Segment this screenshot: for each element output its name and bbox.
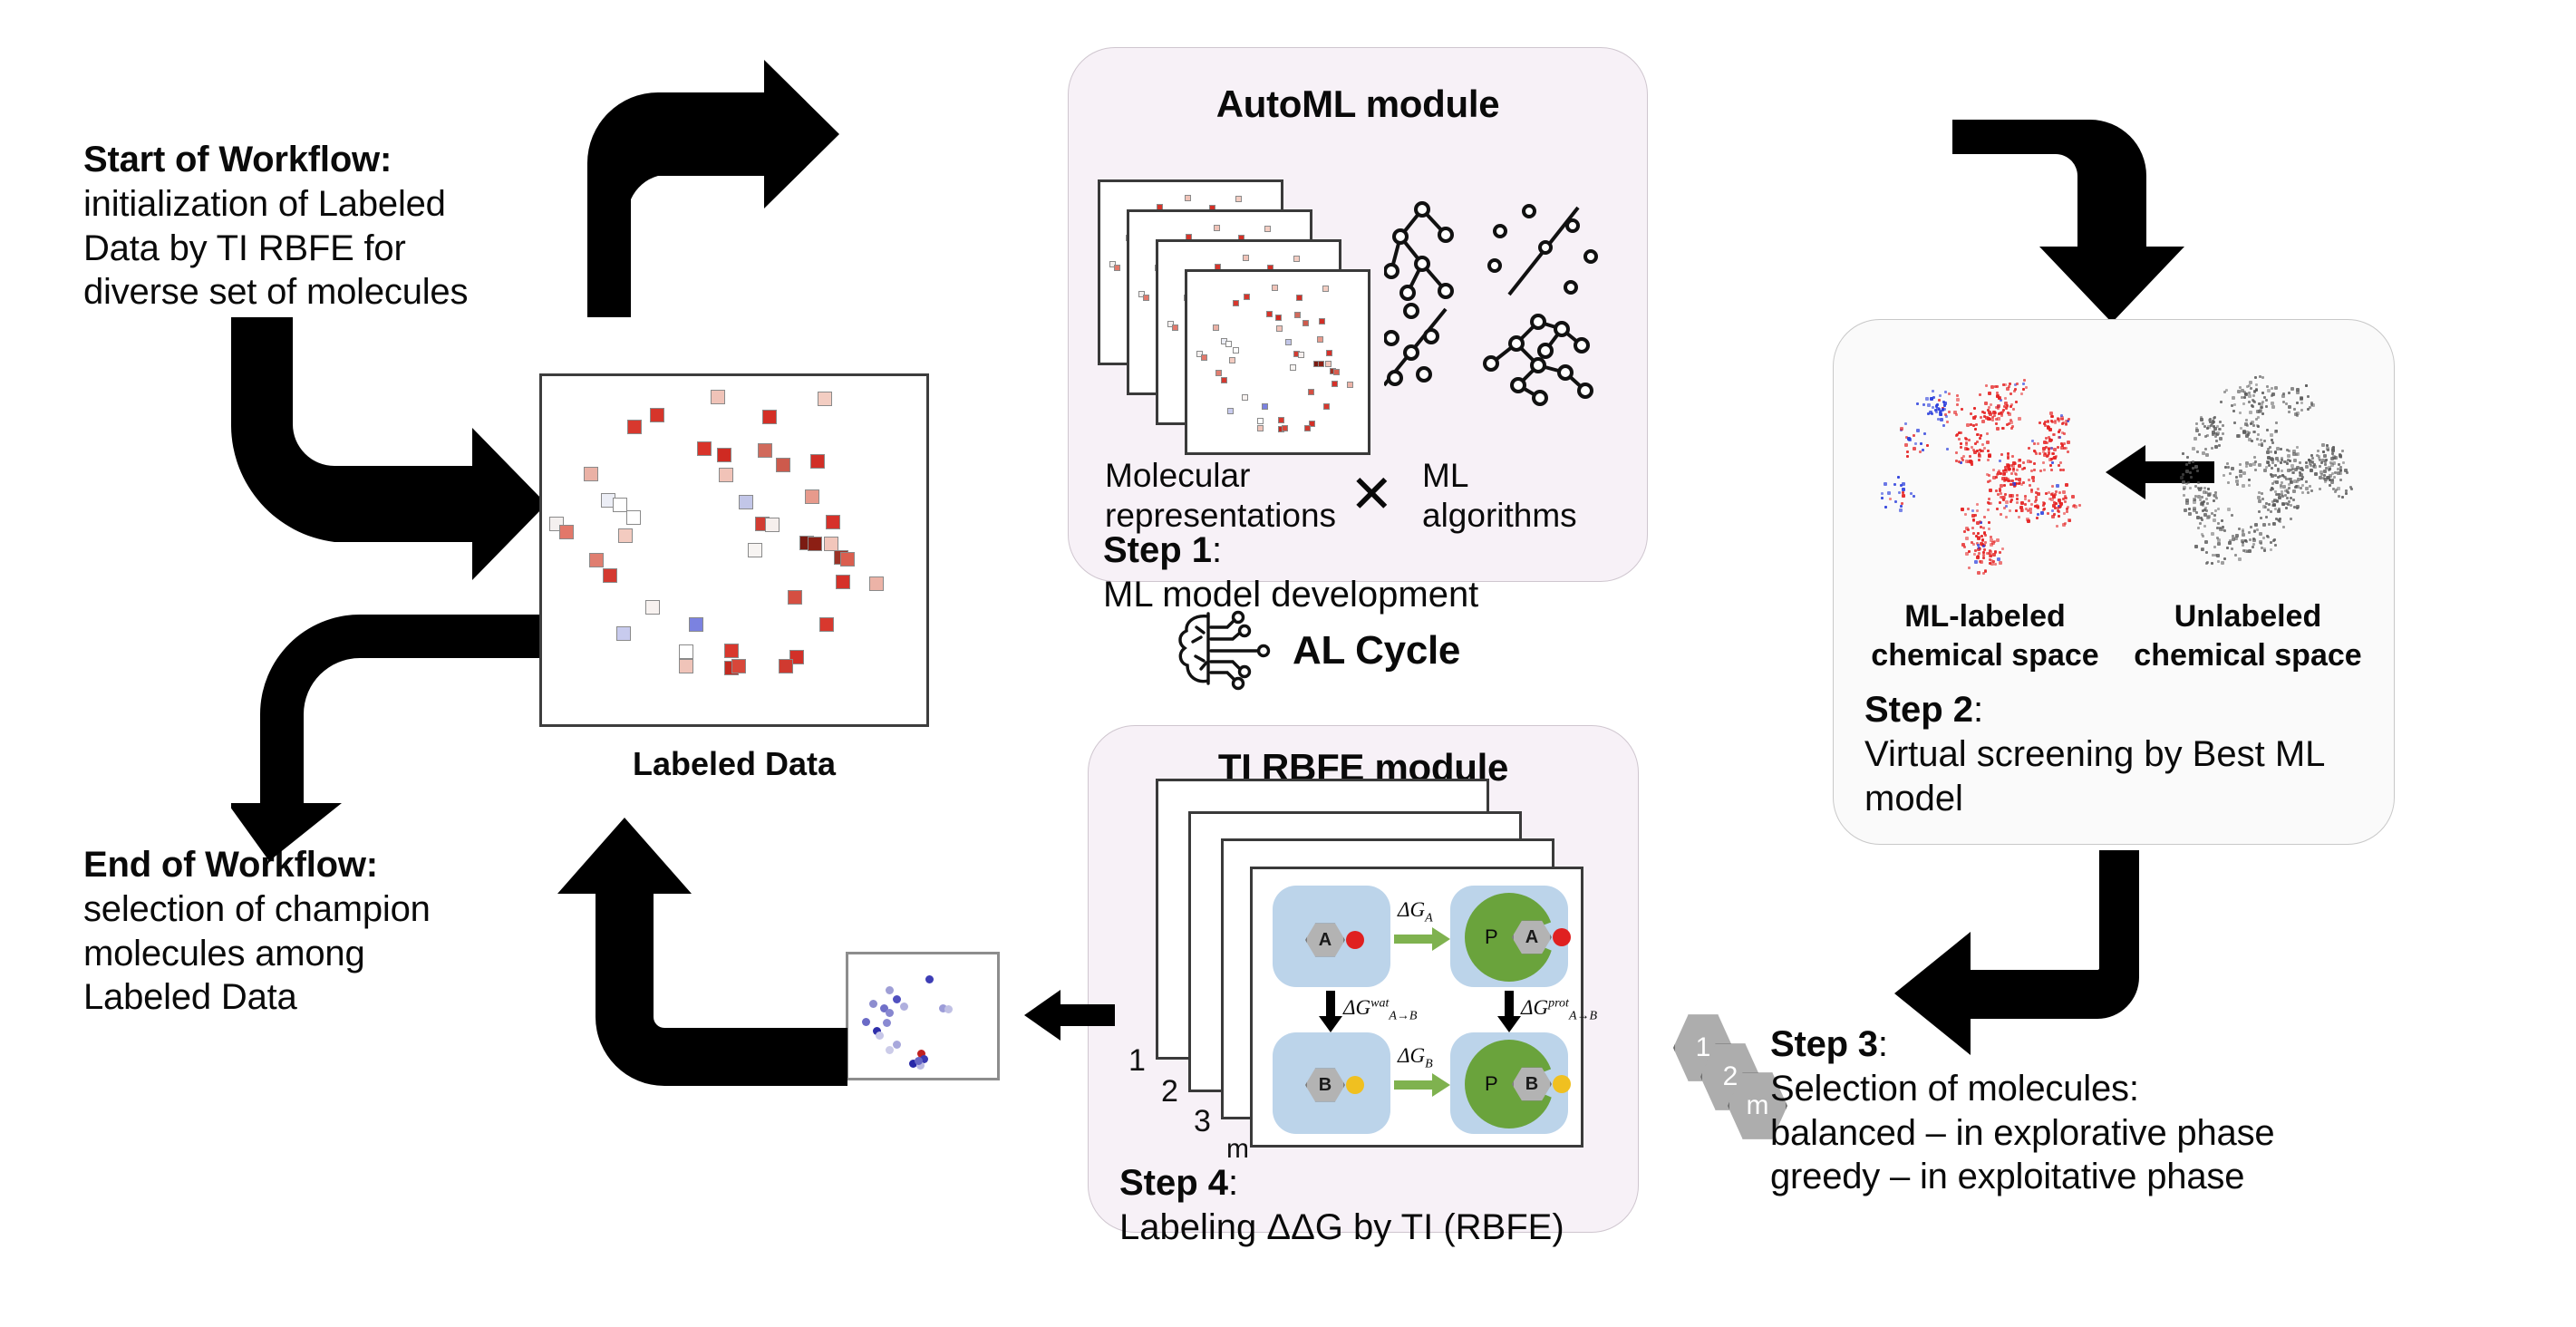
chemical-space-point bbox=[2005, 500, 2009, 504]
chemical-space-point bbox=[2048, 498, 2051, 500]
chemical-space-point bbox=[1990, 536, 1992, 538]
representation-point bbox=[1233, 300, 1239, 306]
chemical-space-point bbox=[2285, 507, 2288, 509]
chemical-space-point bbox=[2047, 421, 2049, 423]
chemical-space-point bbox=[2274, 474, 2277, 477]
chemical-space-point bbox=[1898, 491, 1901, 494]
chemical-space-point bbox=[1972, 543, 1975, 546]
representation-point bbox=[1114, 265, 1120, 271]
chemical-space-point bbox=[1974, 442, 1977, 445]
chemical-space-point bbox=[1964, 513, 1967, 516]
chemical-space-point bbox=[2222, 424, 2224, 427]
chemical-space-point bbox=[2211, 532, 2214, 536]
chemical-space-point bbox=[1980, 535, 1983, 538]
chemical-space-point bbox=[2048, 491, 2050, 494]
chemical-space-point bbox=[2028, 447, 2030, 450]
selected-molecule-point bbox=[862, 1018, 870, 1026]
chemical-space-point bbox=[2200, 416, 2203, 419]
chemical-space-point bbox=[2203, 487, 2206, 489]
chemical-space-point bbox=[2202, 451, 2205, 455]
step-2-text-line-1: Virtual screening by Best ML bbox=[1864, 732, 2372, 777]
chemical-space-point bbox=[1897, 476, 1900, 479]
chemical-space-point bbox=[2002, 496, 2006, 499]
chemical-space-point bbox=[1922, 449, 1924, 451]
chemical-space-point bbox=[2240, 427, 2242, 430]
start-of-workflow-line-1: initialization of Labeled bbox=[83, 182, 555, 227]
chemical-space-point bbox=[1935, 411, 1938, 413]
chemical-space-point bbox=[2290, 387, 2294, 391]
chemical-space-point bbox=[2200, 502, 2203, 506]
chemical-space-point bbox=[2016, 501, 2019, 504]
dg-wat-sup: wat bbox=[1370, 996, 1389, 1010]
chemical-space-point bbox=[2300, 487, 2302, 489]
chemical-space-point bbox=[2025, 508, 2028, 510]
chemical-space-point bbox=[2211, 447, 2213, 450]
chemical-space-point bbox=[2195, 427, 2198, 430]
chemical-space-point bbox=[2328, 469, 2330, 471]
chemical-space-point bbox=[1900, 505, 1903, 508]
chemical-space-point bbox=[2043, 469, 2046, 471]
chemical-space-point bbox=[1999, 460, 2001, 462]
chemical-space-point bbox=[1913, 447, 1916, 450]
chemical-space-point bbox=[2185, 482, 2188, 485]
chemical-space-point bbox=[1968, 567, 1971, 569]
chemical-space-point bbox=[2282, 526, 2285, 528]
chemical-space-point bbox=[2258, 402, 2261, 405]
chemical-space-point bbox=[2239, 463, 2242, 466]
chemical-space-point bbox=[2271, 461, 2274, 464]
dg-b-sub: B bbox=[1425, 1058, 1433, 1071]
chemical-space-point bbox=[2049, 464, 2052, 467]
chemical-space-point bbox=[1961, 408, 1963, 411]
chemical-space-point bbox=[2342, 461, 2345, 464]
chemical-space-point bbox=[1939, 394, 1942, 397]
chemical-space-point bbox=[2296, 402, 2299, 404]
chemical-space-point bbox=[2278, 508, 2281, 510]
chemical-space-point bbox=[2036, 517, 2039, 519]
chemical-space-point bbox=[2307, 395, 2310, 398]
representation-point bbox=[1332, 381, 1338, 387]
labeled-data-point bbox=[765, 518, 780, 532]
chemical-space-point bbox=[1942, 408, 1944, 411]
chemical-space-point bbox=[2009, 494, 2012, 498]
chemical-space-point bbox=[2236, 483, 2239, 486]
chemical-space-point bbox=[2263, 396, 2266, 399]
chemical-space-point bbox=[2012, 468, 2015, 470]
chemical-space-point bbox=[2005, 407, 2008, 410]
protein-p-label-b: P bbox=[1485, 1072, 1498, 1096]
chemical-space-point bbox=[2003, 507, 2006, 509]
dg-a-symbol: ΔG bbox=[1398, 898, 1425, 921]
chemical-space-point bbox=[2029, 511, 2032, 514]
representation-point bbox=[1143, 295, 1149, 301]
chemical-space-point bbox=[2201, 547, 2204, 551]
chemical-space-point bbox=[2313, 465, 2317, 469]
representation-point bbox=[1290, 364, 1296, 371]
ml-algorithms-line-1: ML bbox=[1422, 456, 1622, 496]
chemical-space-point bbox=[2290, 504, 2292, 507]
chemical-space-point bbox=[1932, 390, 1934, 392]
chemical-space-point bbox=[1982, 527, 1985, 529]
representation-point bbox=[1215, 370, 1222, 376]
chemical-space-point bbox=[1978, 454, 1981, 458]
chemical-space-point bbox=[2193, 437, 2197, 441]
chemical-space-point bbox=[2050, 493, 2053, 496]
chemical-space-point bbox=[2039, 452, 2041, 455]
selected-molecule-point bbox=[876, 1032, 884, 1040]
chemical-space-point bbox=[2037, 492, 2040, 496]
selected-molecule-point bbox=[883, 1019, 891, 1027]
chemical-space-point bbox=[2006, 423, 2009, 426]
chemical-space-point bbox=[1902, 491, 1904, 494]
chemical-space-point bbox=[2056, 525, 2058, 528]
chemical-space-point bbox=[2022, 383, 2025, 385]
chemical-space-point bbox=[2329, 484, 2331, 487]
chemical-space-point bbox=[1937, 418, 1940, 421]
chemical-space-point bbox=[1975, 535, 1978, 538]
chemical-space-point bbox=[2037, 513, 2039, 516]
chemical-space-point bbox=[2051, 461, 2054, 464]
chemical-space-point bbox=[2194, 495, 2197, 498]
labeled-data-point bbox=[724, 644, 739, 658]
chemical-space-point bbox=[2012, 408, 2015, 411]
chemical-space-point bbox=[2285, 402, 2288, 405]
chemical-space-point bbox=[2056, 484, 2059, 488]
chemical-space-point bbox=[2032, 479, 2035, 482]
chemical-space-point bbox=[1894, 500, 1897, 503]
chemical-space-point bbox=[1987, 450, 1990, 452]
labeled-data-point bbox=[739, 495, 753, 509]
chemical-space-point bbox=[2242, 530, 2244, 533]
chemical-space-point bbox=[2319, 488, 2321, 490]
chemical-space-point bbox=[2237, 390, 2241, 393]
chemical-space-point bbox=[1987, 509, 1990, 511]
chemical-space-point bbox=[1920, 442, 1922, 445]
chemical-space-point bbox=[2252, 394, 2255, 397]
chemical-space-point bbox=[2252, 462, 2256, 466]
chemical-space-point bbox=[2275, 480, 2279, 484]
chemical-space-point bbox=[2255, 418, 2258, 421]
chemical-space-point bbox=[1998, 397, 2000, 400]
chemical-space-point bbox=[2305, 384, 2308, 387]
chemical-space-point bbox=[1995, 422, 1998, 425]
chemical-space-point bbox=[1972, 519, 1975, 522]
chemical-space-point bbox=[2324, 463, 2327, 466]
chemical-space-point bbox=[2002, 472, 2006, 476]
labeled-data-point bbox=[689, 617, 703, 632]
chemical-space-point bbox=[1986, 473, 1989, 476]
chemical-space-point bbox=[1968, 550, 1971, 553]
chemical-space-point bbox=[2271, 402, 2274, 405]
chemical-space-point bbox=[2324, 460, 2327, 463]
selected-molecule-point bbox=[893, 1041, 901, 1049]
chemical-space-point bbox=[2018, 417, 2021, 421]
labeled-data-point bbox=[824, 537, 838, 551]
chemical-space-point bbox=[2213, 518, 2216, 522]
chemical-space-point bbox=[2016, 494, 2019, 497]
chemical-space-point bbox=[2257, 433, 2260, 436]
chemical-space-point bbox=[2033, 442, 2036, 445]
chemical-space-point bbox=[1946, 421, 1949, 423]
chemical-space-point bbox=[1963, 546, 1966, 548]
arrow-up-right-to-automl bbox=[580, 54, 843, 317]
chemical-space-point bbox=[1965, 552, 1969, 556]
chemical-space-point bbox=[2058, 499, 2061, 502]
chemical-space-point bbox=[2023, 467, 2026, 470]
chemical-space-point bbox=[2242, 430, 2246, 433]
chemical-space-point bbox=[1984, 570, 1987, 573]
chemical-space-point bbox=[2188, 512, 2192, 516]
chemical-space-point bbox=[2269, 446, 2271, 449]
chemical-space-point bbox=[2293, 408, 2296, 411]
chemical-space-point bbox=[2061, 431, 2064, 434]
labeled-data-point bbox=[618, 528, 633, 543]
unlabeled-caption-line-1: Unlabeled bbox=[2116, 597, 2379, 636]
chemical-space-point bbox=[1930, 397, 1933, 401]
chemical-space-point bbox=[2254, 523, 2258, 527]
chemical-space-point bbox=[2217, 538, 2221, 542]
chemical-space-point bbox=[2213, 514, 2216, 517]
labeled-data-point bbox=[697, 441, 712, 456]
step-1-label: Step 1: ML model development bbox=[1103, 528, 1478, 617]
stack-label-1: 1 bbox=[1128, 1043, 1146, 1079]
chemical-space-point bbox=[2047, 512, 2049, 515]
chemical-space-point bbox=[1978, 552, 1980, 555]
labeled-data-point bbox=[559, 525, 574, 539]
ml-algorithms-icons bbox=[1384, 193, 1611, 406]
chemical-space-point bbox=[2255, 383, 2258, 386]
chemical-space-point bbox=[2063, 442, 2066, 445]
chemical-space-point bbox=[2058, 510, 2060, 513]
chemical-space-point bbox=[2033, 450, 2036, 452]
step-2-colon: : bbox=[1973, 690, 1983, 730]
arrow-left-to-labeled-update bbox=[1024, 990, 1115, 1045]
chemical-space-point bbox=[1936, 403, 1939, 406]
chemical-space-point bbox=[2015, 509, 2018, 512]
chemical-space-point bbox=[1976, 433, 1979, 436]
chemical-space-point bbox=[2220, 401, 2223, 403]
chemical-space-point bbox=[1989, 562, 1991, 565]
dg-b-symbol: ΔG bbox=[1398, 1044, 1425, 1067]
chemical-space-point bbox=[1975, 423, 1978, 426]
labeled-data-point bbox=[776, 458, 790, 472]
chemical-space-point bbox=[2339, 466, 2342, 469]
chemical-space-point bbox=[2261, 401, 2264, 403]
chemical-space-point bbox=[2234, 537, 2238, 540]
representation-point bbox=[1221, 377, 1227, 383]
chemical-space-point bbox=[2053, 448, 2057, 451]
chemical-space-point bbox=[2259, 409, 2262, 412]
chemical-space-point bbox=[2194, 465, 2198, 469]
chemical-space-point bbox=[2018, 478, 2021, 481]
chemical-space-point bbox=[1904, 443, 1908, 447]
chemical-space-point bbox=[2014, 388, 2017, 391]
chemical-space-point bbox=[2219, 428, 2222, 431]
protein-p-label-a: P bbox=[1485, 925, 1498, 949]
chemical-space-point bbox=[1956, 398, 1960, 402]
chemical-space-point bbox=[1984, 534, 1987, 537]
chemical-space-point bbox=[1988, 521, 1990, 524]
chemical-space-point bbox=[1902, 482, 1905, 486]
dg-wat-symbol: ΔG bbox=[1343, 996, 1370, 1019]
chemical-space-point bbox=[2199, 522, 2202, 525]
chemical-space-point bbox=[2270, 450, 2272, 453]
chemical-space-point bbox=[1999, 561, 2002, 565]
chemical-space-point bbox=[2015, 478, 2018, 480]
chemical-space-point bbox=[2251, 440, 2253, 442]
representation-point bbox=[1318, 361, 1324, 367]
ti-rbfe-module-panel: TI RBFE module A A P B B P bbox=[1088, 725, 1639, 1233]
chemical-space-point bbox=[1981, 420, 1985, 423]
chemical-space-point bbox=[2334, 471, 2337, 474]
black-arrow-dg-prot bbox=[1497, 991, 1521, 1037]
step-2-text-line-2: model bbox=[1864, 777, 2372, 821]
chemical-space-point bbox=[2058, 515, 2060, 518]
labeled-data-plot bbox=[539, 373, 929, 727]
ml-algorithms-label: ML algorithms bbox=[1422, 456, 1622, 537]
green-arrow-dg-a bbox=[1394, 927, 1450, 955]
chemical-space-point bbox=[2024, 498, 2027, 500]
representation-point bbox=[1319, 318, 1325, 324]
chemical-space-point bbox=[2286, 489, 2289, 491]
chemical-space-point bbox=[2288, 411, 2290, 413]
representation-point bbox=[1257, 425, 1264, 431]
labeled-data-point bbox=[840, 552, 855, 567]
chemical-space-point bbox=[2062, 469, 2065, 471]
chemical-space-point bbox=[2265, 399, 2268, 402]
chemical-space-point bbox=[1881, 497, 1884, 499]
chemical-space-point bbox=[2280, 486, 2282, 489]
chemical-space-point bbox=[2200, 517, 2203, 519]
chemical-space-point bbox=[2203, 525, 2206, 528]
chemical-space-point bbox=[2040, 511, 2044, 515]
chemical-space-point bbox=[1996, 392, 1999, 394]
chemical-space-point bbox=[2293, 459, 2297, 462]
chemical-space-point bbox=[2327, 449, 2329, 451]
representation-point bbox=[1229, 357, 1235, 363]
chemical-space-point bbox=[2245, 540, 2248, 543]
selected-molecule-point bbox=[944, 1005, 953, 1013]
chemical-space-point bbox=[2281, 502, 2285, 506]
chemical-space-point bbox=[2272, 522, 2276, 526]
chemical-space-point bbox=[2246, 385, 2249, 388]
chemical-space-point bbox=[2060, 446, 2064, 450]
chemical-space-point bbox=[2024, 503, 2027, 506]
labeled-data-point bbox=[589, 553, 604, 567]
chemical-space-point bbox=[2310, 464, 2312, 467]
chemical-space-point bbox=[2305, 480, 2308, 483]
chemical-space-point bbox=[2027, 460, 2030, 463]
chemical-space-point bbox=[2022, 481, 2025, 484]
labeled-data-point bbox=[711, 390, 725, 404]
labeled-data-point bbox=[719, 468, 733, 482]
chemical-space-point bbox=[1982, 554, 1985, 557]
dg-prot-label: ΔGprotA→B bbox=[1521, 996, 1597, 1024]
chemical-space-point bbox=[2275, 421, 2278, 424]
chemical-space-point bbox=[1967, 448, 1970, 450]
chemical-space-point bbox=[2066, 510, 2068, 513]
chemical-space-point bbox=[1906, 450, 1909, 453]
chemical-space-point bbox=[1916, 402, 1919, 405]
chemical-space-point bbox=[2249, 411, 2252, 414]
selected-molecule-point bbox=[893, 995, 901, 1003]
chemical-space-point bbox=[1995, 489, 1998, 492]
chemical-space-point bbox=[1942, 424, 1945, 427]
chemical-space-point bbox=[1982, 557, 1985, 559]
chemical-space-point bbox=[2294, 486, 2297, 489]
ti-card-front: A A P B B P ΔGA bbox=[1250, 867, 1583, 1148]
chemical-space-point bbox=[1965, 537, 1969, 540]
representation-point bbox=[1243, 255, 1249, 261]
chemical-space-point bbox=[2252, 538, 2256, 542]
chemical-space-point bbox=[2260, 439, 2262, 441]
chemical-space-point bbox=[2331, 452, 2334, 455]
chemical-space-point bbox=[1976, 556, 1980, 559]
representation-point bbox=[1264, 226, 1271, 232]
dg-a-sub: A bbox=[1425, 912, 1433, 925]
chemical-space-point bbox=[1990, 385, 1994, 389]
chemical-space-point bbox=[1946, 448, 1949, 450]
chemical-space-point bbox=[2231, 514, 2233, 517]
chemical-space-point bbox=[2323, 454, 2327, 458]
chemical-space-point bbox=[2227, 481, 2230, 484]
chemical-space-point bbox=[1988, 392, 1991, 395]
ml-labeled-caption-line-2: chemical space bbox=[1854, 636, 2116, 675]
representation-point bbox=[1262, 403, 1268, 410]
chemical-space-point bbox=[1996, 385, 1999, 388]
chemical-space-point bbox=[2221, 519, 2223, 522]
chemical-space-point bbox=[2004, 477, 2008, 480]
chemical-space-point bbox=[1919, 450, 1922, 453]
chemical-space-point bbox=[1974, 428, 1977, 431]
chemical-space-point bbox=[2051, 485, 2054, 488]
chemical-space-point bbox=[2305, 465, 2309, 469]
chemical-space-point bbox=[2009, 421, 2013, 424]
chemical-space-point bbox=[2252, 546, 2254, 548]
chemical-space-point bbox=[2007, 452, 2009, 455]
chemical-space-point bbox=[1944, 391, 1947, 393]
chemical-space-point bbox=[2311, 460, 2314, 463]
chemical-space-point bbox=[2195, 422, 2198, 425]
chemical-space-point bbox=[2053, 433, 2056, 436]
chemical-space-point bbox=[1973, 450, 1977, 454]
chemical-space-point bbox=[2271, 458, 2274, 461]
chemical-space-point bbox=[2033, 469, 2036, 471]
chemical-space-point bbox=[2248, 531, 2251, 534]
chemical-space-point bbox=[2211, 562, 2213, 565]
chemical-space-point bbox=[2255, 388, 2258, 391]
chemical-space-point bbox=[2052, 452, 2055, 455]
chemical-space-point bbox=[2011, 464, 2015, 468]
chemical-space-point bbox=[2000, 484, 2003, 488]
step-2-number: Step 2 bbox=[1864, 690, 1973, 730]
chemical-space-point bbox=[1987, 480, 1990, 483]
chemical-space-point bbox=[2068, 519, 2071, 522]
chemical-space-point bbox=[2034, 505, 2037, 508]
chemical-space-point bbox=[2216, 554, 2220, 557]
chemical-space-point bbox=[2182, 452, 2184, 455]
labeled-data-point bbox=[616, 626, 631, 641]
chemical-space-point bbox=[2305, 487, 2309, 490]
ligand-b-group-water bbox=[1346, 1076, 1364, 1094]
chemical-space-point bbox=[1997, 407, 2000, 410]
labeled-data-point bbox=[626, 510, 641, 525]
chemical-space-point bbox=[2321, 443, 2325, 447]
chemical-space-point bbox=[2244, 422, 2248, 426]
chemical-space-point bbox=[2268, 503, 2271, 506]
chemical-space-point bbox=[2260, 517, 2262, 519]
chemical-space-point bbox=[2023, 379, 2026, 382]
